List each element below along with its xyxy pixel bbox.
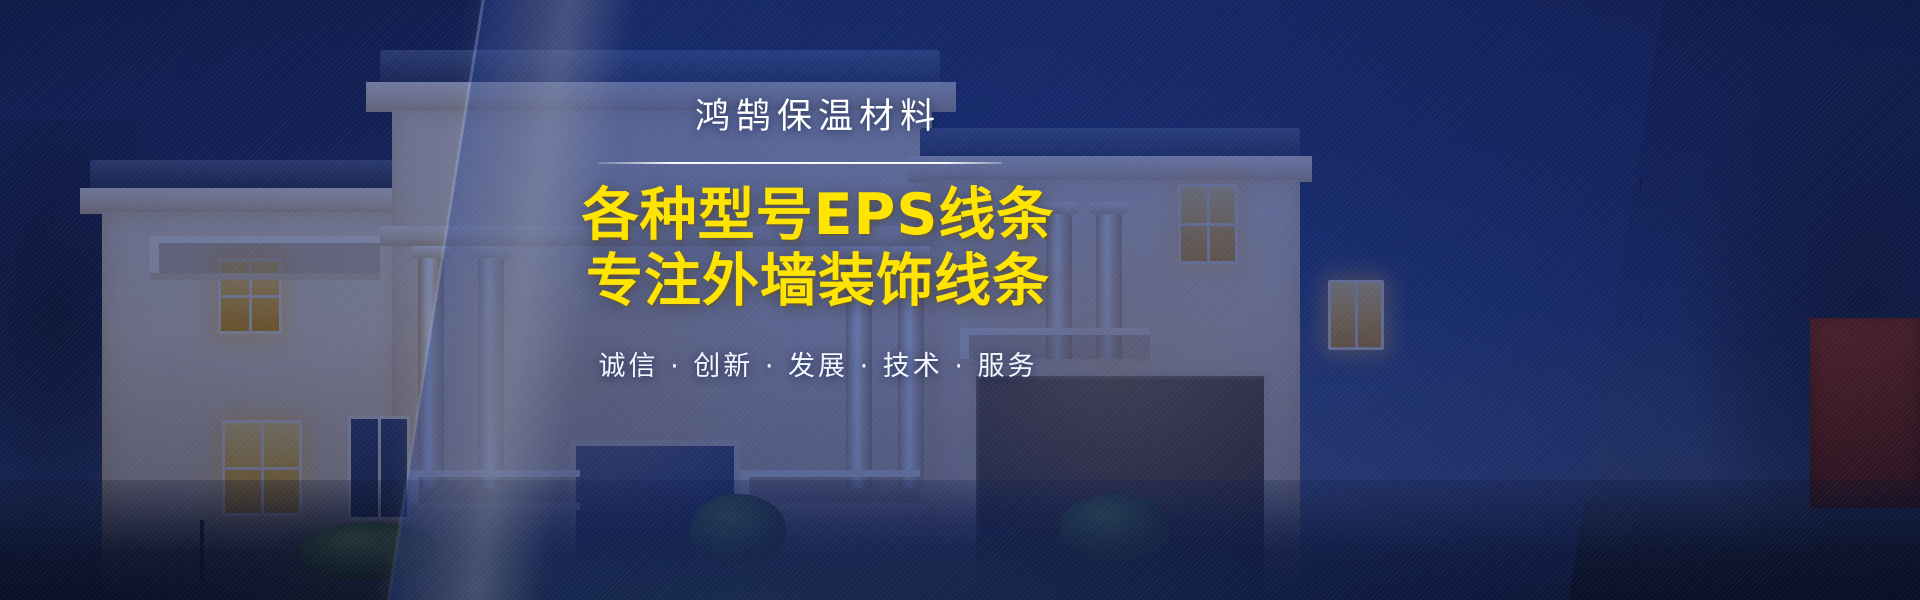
divider-rule (598, 162, 1002, 164)
headline-line-2: 专注外墙装饰线条 (578, 248, 1058, 314)
hero-banner: 鸿鹄保温材料 各种型号EPS线条 专注外墙装饰线条 诚信 · 创新 · 发展 ·… (0, 0, 1920, 600)
tagline: 诚信 · 创新 · 发展 · 技术 · 服务 (578, 344, 1058, 383)
brand-name: 鸿鹄保温材料 (578, 96, 1058, 140)
headline: 各种型号EPS线条 专注外墙装饰线条 (578, 182, 1058, 314)
headline-line-1: 各种型号EPS线条 (578, 182, 1058, 248)
banner-copy: 鸿鹄保温材料 各种型号EPS线条 专注外墙装饰线条 诚信 · 创新 · 发展 ·… (578, 96, 1058, 383)
